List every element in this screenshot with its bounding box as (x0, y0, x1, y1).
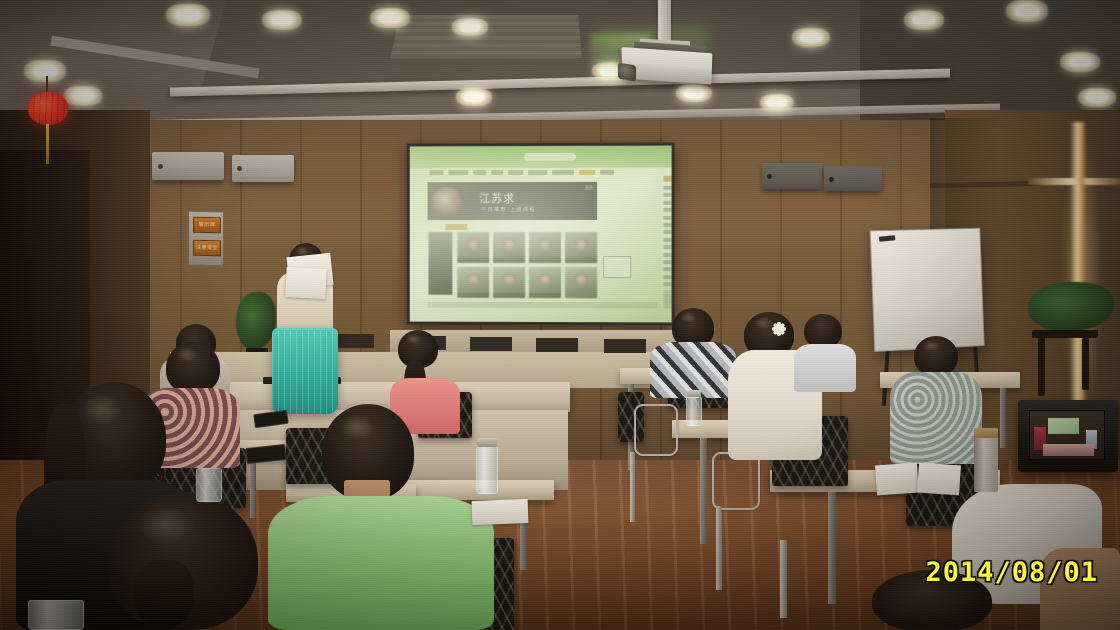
attendee-gray-head (914, 336, 958, 376)
air-conditioner-2 (232, 155, 294, 182)
ceiling-downlight-11 (792, 28, 830, 47)
projected-thumbnail-2 (493, 232, 525, 263)
hair-highlight (922, 340, 940, 351)
air-conditioner-3 (762, 163, 822, 189)
projected-sidebar-row-label (664, 215, 672, 219)
desk-right-mid-leg (700, 438, 707, 544)
projected-page-header (410, 146, 672, 169)
projected-thumbnail-7 (529, 267, 561, 298)
projected-sidebar-row-label (664, 208, 672, 212)
projected-sidebar-promo (664, 290, 672, 308)
projected-sidebar-row-label (664, 238, 672, 242)
attendee-foreground-left-ponytail (134, 560, 194, 630)
whiteboard-flipchart (870, 228, 985, 352)
thermos-cap (974, 428, 998, 438)
projected-sidebar-row-label (664, 267, 672, 271)
presenter-skirt-pleats (272, 330, 338, 414)
projector-mount-pole (658, 0, 671, 42)
potted-plant-right-shelf (1032, 330, 1098, 338)
glass-jar-foreground (28, 600, 84, 630)
projection-screen-surface: 江苏求 今日推荐 上流课程 更多 (410, 146, 672, 323)
projected-sidebar-row-label (664, 230, 672, 234)
projected-nav-item-4 (491, 170, 503, 175)
projected-sidebar-row-label (664, 253, 672, 257)
projected-thumbnail-caption (493, 293, 525, 298)
projected-sidebar-row-1 (664, 186, 672, 190)
projected-nav-item-8 (579, 170, 595, 175)
air-conditioner-sensor-dot (829, 177, 834, 182)
red-paper-lantern (28, 92, 68, 125)
presenter-papers-back (285, 267, 327, 299)
chair-leg-right-2 (716, 506, 722, 590)
projected-nav-item-9 (600, 170, 614, 175)
projected-sidebar-rows (664, 186, 672, 287)
projected-sidebar-row-13 (664, 275, 672, 279)
projected-sidebar-row-6 (664, 223, 672, 227)
air-conditioner-1 (152, 152, 224, 180)
ceiling-downlight-10 (760, 94, 794, 111)
projected-sidebar-row-3 (664, 201, 672, 205)
projected-sidebar-row-8 (664, 238, 672, 242)
projected-sidebar-row-label (664, 223, 672, 227)
projected-sidebar-row-label (664, 282, 672, 286)
wall-sign-plaque-bottom: 注意安全 (193, 240, 221, 257)
water-bottle-right (686, 396, 702, 426)
potted-plant-right-leg-a (1038, 338, 1045, 396)
camcorder-preview-projection (1048, 418, 1079, 434)
projected-banner-subtitle: 今日推荐 上流课程 (481, 206, 536, 213)
projected-nav-item-3 (473, 170, 486, 175)
projected-thumbnail-caption (457, 293, 489, 298)
projected-sidebar-row-label (664, 186, 672, 190)
attendee-white-shirt (794, 344, 856, 392)
photograph-classroom-training: 警示牌 注意安全 江苏求 今日推荐 上流课程 更多 (0, 0, 1120, 630)
camcorder-preview-desk (1043, 444, 1093, 456)
air-conditioner-sensor-dot (237, 166, 242, 171)
desk-far-right-leg (1000, 388, 1006, 448)
projected-sidebar-heading (664, 176, 672, 182)
ceiling-downlight-15 (1078, 88, 1116, 107)
water-bottle-right-cap (687, 390, 701, 397)
ceiling-downlight-2 (64, 86, 102, 106)
ceiling-downlight-6 (452, 18, 488, 36)
hair-highlight (176, 347, 198, 362)
projected-section-title (445, 224, 467, 230)
attendee-floral-head (166, 342, 220, 394)
glass-cup-left (196, 468, 222, 502)
projected-sidebar-row-label (664, 260, 672, 264)
projected-sidebar-row-9 (664, 245, 672, 249)
ceiling-downlight-5 (370, 8, 410, 28)
projected-sidebar-row-4 (664, 208, 672, 212)
open-book (876, 464, 962, 494)
notepad-center (472, 499, 529, 525)
front-desk-panel-4 (604, 339, 646, 353)
hair-highlight (405, 334, 421, 345)
projected-sidebar-row-7 (664, 230, 672, 234)
air-conditioner-sensor-dot (158, 164, 163, 169)
air-conditioner-sensor-dot (767, 174, 772, 179)
projected-sidebar (664, 176, 672, 307)
projected-banner-more-link: 更多 (585, 185, 593, 191)
attendee-green-shirt (268, 496, 494, 630)
ceiling-downlight-4 (262, 10, 302, 30)
projected-sidebar-row-10 (664, 253, 672, 257)
projected-nav-item-5 (508, 170, 523, 175)
chair-leg-right-1 (630, 452, 635, 522)
projected-thumbnail-6 (493, 267, 525, 298)
projected-sidebar-row-label (664, 245, 672, 249)
projected-sidebar-row-11 (664, 260, 672, 264)
projected-sidebar-row-2 (664, 193, 672, 197)
front-desk-panel-0 (332, 334, 374, 348)
projected-nav-item-2 (448, 170, 468, 175)
desk-left-back-leg (250, 458, 256, 518)
projected-nav-bar (426, 168, 658, 178)
camera-date-stamp: 2014/08/01 (925, 557, 1098, 588)
projected-sidebar-row-12 (664, 267, 672, 271)
projected-banner-title: 江苏求 (479, 190, 515, 206)
hair-highlight (680, 312, 697, 323)
wall-sign-frame: 警示牌 注意安全 (188, 211, 224, 267)
projected-nav-item-7 (552, 170, 574, 175)
front-desk-panel-2 (470, 337, 512, 351)
projected-thumbnail-caption (529, 258, 561, 263)
water-bottle-center-cap (477, 438, 497, 447)
projected-thumbnail-8 (565, 267, 597, 298)
projected-sidebar-row-5 (664, 215, 672, 219)
projected-banner: 江苏求 今日推荐 上流课程 更多 (428, 182, 598, 220)
projector-lens (618, 62, 636, 81)
projected-sidebar-row-label (664, 275, 672, 279)
projected-thumbnail-1 (457, 232, 489, 263)
projected-nav-item-6 (528, 170, 547, 175)
thermos-bottle (974, 436, 998, 492)
hair-highlight (753, 317, 773, 330)
projected-sidebar-row-14 (664, 282, 672, 286)
air-conditioner-4 (824, 166, 882, 191)
wall-sign-text-top: 警示牌 (194, 218, 220, 233)
attendee-gray-shirt (890, 372, 982, 464)
ceiling-downlight-12 (904, 10, 944, 30)
wall-sign-text-bottom: 注意安全 (194, 241, 220, 256)
hair-highlight (339, 414, 376, 441)
projected-nav-item-1 (430, 170, 444, 175)
hair-highlight (135, 506, 195, 545)
projection-screen: 江苏求 今日推荐 上流课程 更多 (407, 143, 675, 326)
desk-right-front-leg (828, 492, 836, 604)
projected-thumbnail-grid (457, 232, 597, 298)
wall-sign-plaque-top: 警示牌 (193, 217, 221, 234)
ceiling-downlight-13 (1006, 0, 1048, 22)
camcorder-lcd-screen (1029, 410, 1105, 460)
water-bottle-center (476, 446, 498, 494)
ceiling-downlight-3 (166, 4, 210, 26)
projected-thumbnail-caption (493, 258, 525, 263)
projected-thumbnail-4 (565, 232, 597, 263)
ceiling-downlight-1 (24, 60, 66, 82)
hair-highlight (81, 393, 123, 424)
white-flower-hair-clip (772, 322, 786, 336)
ceiling-downlight-14 (1060, 52, 1100, 72)
projected-thumbnail-caption (565, 258, 597, 263)
chair-armrest-right-1 (634, 404, 678, 456)
whiteboard-clip (879, 235, 896, 242)
front-desk-panel-3 (536, 338, 578, 352)
chair-leg-right-3 (780, 540, 787, 618)
projected-thumbnail-caption (457, 258, 489, 263)
projected-thumbnail-3 (529, 232, 561, 263)
projected-thumbnail-5 (457, 267, 489, 298)
projected-feature-photo (429, 232, 453, 295)
chair-armrest-right-2 (712, 452, 760, 510)
projected-sidebar-row-label (664, 193, 672, 197)
projected-sidebar-row-label (664, 201, 672, 205)
projected-banner-portrait (432, 187, 462, 217)
projected-page-footer (428, 302, 658, 309)
potted-plant-right-leg-b (1082, 338, 1089, 390)
ceiling-downlight-7 (456, 88, 492, 106)
projected-side-card (603, 256, 631, 278)
lantern-tassel (46, 124, 49, 164)
projected-thumbnail-caption (529, 293, 561, 298)
projected-search-box (524, 153, 576, 161)
attendee-white-head (804, 314, 842, 348)
